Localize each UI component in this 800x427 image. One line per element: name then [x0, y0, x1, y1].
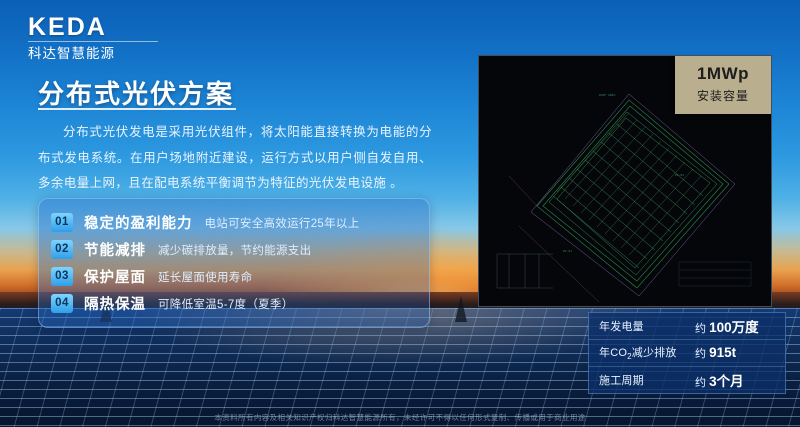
- svg-text:ROOF AREA: ROOF AREA: [599, 93, 615, 97]
- metric-value: 约 100万度: [695, 316, 759, 336]
- table-row: 施工周期 约 3个月: [589, 367, 785, 393]
- feature-title: 稳定的盈利能力: [84, 212, 193, 233]
- transmission-pylon-icon: [455, 296, 467, 322]
- page-title: 分布式光伏方案: [38, 74, 234, 111]
- list-item: 01 稳定的盈利能力 电站可安全高效运行25年以上: [39, 209, 429, 236]
- table-row: 年CO2减少排放 约 915t: [589, 340, 785, 367]
- key-metrics-table: 年发电量 约 100万度 年CO2减少排放 约 915t 施工周期 约 3个月: [588, 312, 786, 394]
- table-row: 年发电量 约 100万度: [589, 313, 785, 340]
- feature-title: 隔热保温: [84, 293, 146, 314]
- logo-subtitle: 科达智慧能源: [28, 42, 168, 62]
- feature-description: 减少碳排放量，节约能源支出: [158, 242, 311, 258]
- list-item: 04 隔热保温 可降低室温5-7度（夏季）: [39, 290, 429, 317]
- metric-value: 约 915t: [695, 345, 736, 361]
- feature-description: 可降低室温5-7度（夏季）: [158, 296, 294, 312]
- list-item: 03 保护屋面 延长屋面使用寿命: [39, 263, 429, 290]
- title-underline: [38, 108, 236, 110]
- feature-description: 延长屋面使用寿命: [158, 269, 252, 285]
- feature-list: 01 稳定的盈利能力 电站可安全高效运行25年以上 02 节能减排 减少碳排放量…: [38, 198, 430, 328]
- brand-logo: KEDA 科达智慧能源: [28, 14, 168, 62]
- metric-value-prefix: 约: [695, 323, 709, 335]
- metric-value-prefix: 约: [695, 377, 709, 389]
- feature-number-badge: 01: [51, 213, 73, 232]
- metric-value-number: 3个月: [709, 374, 744, 389]
- svg-text:PV-01: PV-01: [563, 249, 572, 253]
- footer-disclaimer: 本资料所有内容及相关知识产权归科达智慧能源所有，未经许可不得以任何形式复制、传播…: [0, 412, 800, 423]
- metric-value-number: 100万度: [709, 320, 759, 335]
- feature-title: 保护屋面: [84, 266, 146, 287]
- capacity-badge-label: 安装容量: [675, 87, 771, 104]
- metric-label-pre: 年CO: [599, 347, 627, 359]
- metric-value: 约 3个月: [695, 370, 744, 390]
- metric-label: 年发电量: [599, 318, 695, 334]
- metric-label: 年CO2减少排放: [599, 344, 695, 361]
- metric-value-number: 915t: [709, 345, 736, 360]
- capacity-badge-value: 1MWp: [675, 64, 771, 84]
- svg-text:PV-02: PV-02: [675, 173, 684, 177]
- feature-number-badge: 02: [51, 240, 73, 259]
- metric-label-post: 减少排放: [632, 347, 677, 359]
- intro-paragraph: 分布式光伏发电是采用光伏组件，将太阳能直接转换为电能的分布式发电系统。在用户场地…: [38, 120, 432, 197]
- logo-wordmark: KEDA: [28, 14, 168, 40]
- metric-label: 施工周期: [599, 372, 695, 388]
- feature-description: 电站可安全高效运行25年以上: [205, 215, 360, 231]
- cad-site-plan-image: PV-01 PV-02 ROOF AREA 1MWp 安装容量: [478, 55, 772, 307]
- metric-value-prefix: 约: [695, 348, 709, 360]
- logo-divider: [28, 41, 158, 42]
- feature-number-badge: 03: [51, 267, 73, 286]
- feature-title: 节能减排: [84, 239, 146, 260]
- capacity-badge: 1MWp 安装容量: [675, 56, 771, 114]
- slide-canvas: KEDA 科达智慧能源 分布式光伏方案 分布式光伏发电是采用光伏组件，将太阳能直…: [0, 0, 800, 427]
- list-item: 02 节能减排 减少碳排放量，节约能源支出: [39, 236, 429, 263]
- feature-number-badge: 04: [51, 294, 73, 313]
